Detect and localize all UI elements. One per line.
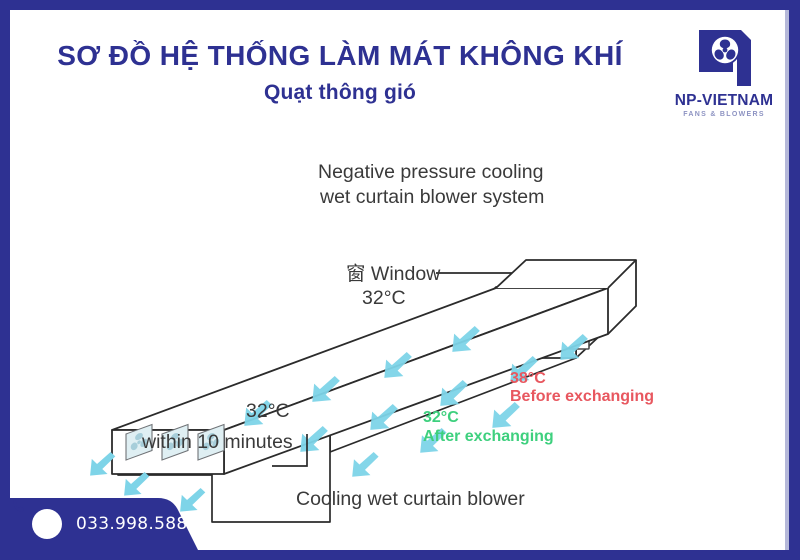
outlet-temperature: 32°C <box>246 400 290 422</box>
page-subtitle: Quạt thông gió <box>50 81 630 105</box>
page-frame: SƠ ĐỒ HỆ THỐNG LÀM MÁT KHÔNG KHÍ Quạt th… <box>0 0 800 560</box>
airflow-arrow <box>492 402 520 428</box>
outlet-note: within 10 minutes <box>141 431 293 453</box>
title-block: SƠ ĐỒ HỆ THỐNG LÀM MÁT KHÔNG KHÍ Quạt th… <box>50 40 630 105</box>
after-temperature: 32°C <box>423 409 459 426</box>
phone-badge[interactable]: 033.998.5885 <box>10 498 225 550</box>
brand-name: NP-VIETNAM <box>665 92 783 110</box>
phone-glyph <box>10 498 27 515</box>
brand-tagline: FANS & BLOWERS <box>665 111 783 118</box>
p-fan-logo-icon <box>693 28 755 90</box>
diagram-caption-bottom: Cooling wet curtain blower <box>296 488 525 510</box>
window-label: 窗 Window <box>346 263 441 285</box>
before-temperature: 38°C <box>510 370 546 387</box>
phone-number: 033.998.5885 <box>76 514 199 534</box>
before-label: Before exchanging <box>510 388 654 405</box>
after-label: After exchanging <box>423 428 554 445</box>
cooling-system-diagram: Negative pressure cooling wet curtain bl… <box>10 130 790 550</box>
diagram-caption-line2: wet curtain blower system <box>319 186 544 208</box>
phone-icon <box>32 509 62 539</box>
diagram-caption-line1: Negative pressure cooling <box>318 161 543 183</box>
brand-logo: NP-VIETNAM FANS & BLOWERS <box>665 28 783 118</box>
window-temperature: 32°C <box>362 287 406 309</box>
airflow-arrow <box>352 452 378 477</box>
header: SƠ ĐỒ HỆ THỐNG LÀM MÁT KHÔNG KHÍ Quạt th… <box>10 10 790 130</box>
page-title: SƠ ĐỒ HỆ THỐNG LÀM MÁT KHÔNG KHÍ <box>50 40 630 72</box>
